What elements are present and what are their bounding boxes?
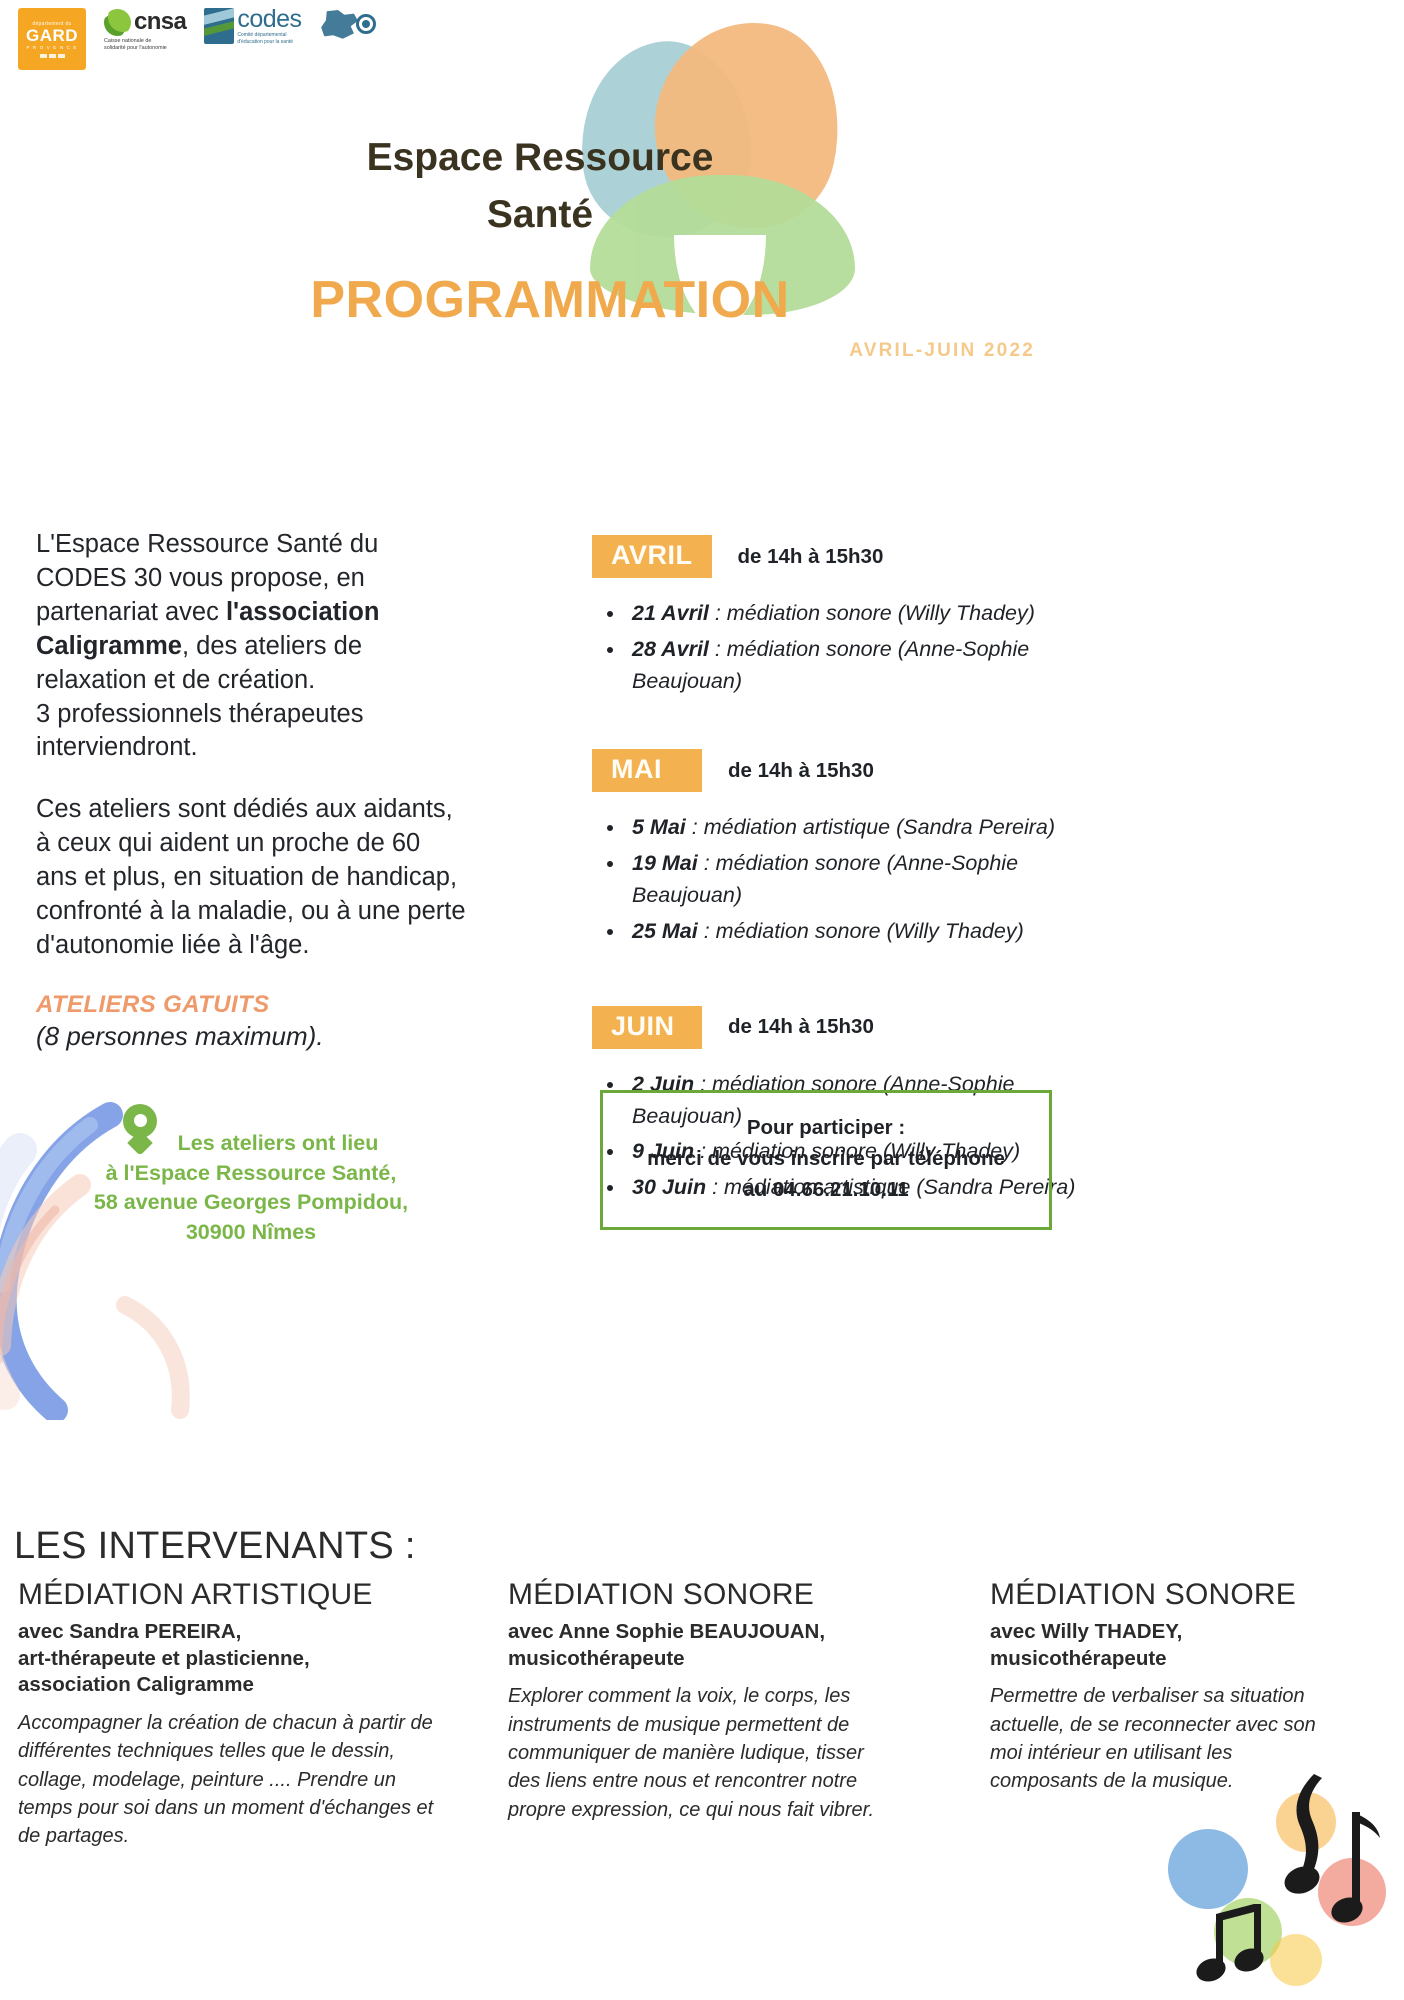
session-desc: : médiation sonore (Willy Thadey) [709, 601, 1035, 625]
session-date: 19 Mai [632, 851, 698, 875]
location-line-3: 58 avenue Georges Pompidou, [94, 1190, 408, 1214]
intro-paragraph-2: Ces ateliers sont dédiés aux aidants, à … [36, 793, 466, 963]
month-badge-mai: MAI [592, 749, 702, 792]
codes-logo-word: codes [237, 5, 301, 33]
location-line-4: 30900 Nîmes [186, 1220, 316, 1244]
session-date: 5 Mai [632, 815, 686, 839]
cnsa-leaf-icon [104, 9, 131, 36]
gard-logo-small-text: département du [32, 22, 71, 27]
intervenant-card-1: MÉDIATION ARTISTIQUE avec Sandra PEREIRA… [18, 1578, 478, 1851]
contact-line-2: merci de vous inscrire par téléphone [613, 1144, 1039, 1175]
intervenant-description: Explorer comment la voix, le corps, les … [508, 1682, 900, 1824]
intro-p1-part-d: 3 professionnels thérapeutes interviendr… [36, 700, 363, 762]
codes-logo: codes Comité départemental d'éducation p… [204, 8, 301, 45]
cnsa-logo-sub: Caisse nationale de solidarité pour l'au… [104, 38, 167, 52]
location-block: Les ateliers ont lieu à l'Espace Ressour… [36, 1104, 466, 1248]
page-title-line1: Espace Ressource [367, 136, 714, 179]
month-badge-juin: JUIN [592, 1006, 702, 1049]
contact-phone: au 04.66.21.10.11 [613, 1175, 1039, 1206]
intervenants-title: LES INTERVENANTS : [14, 1525, 416, 1568]
cnsa-logo-word: cnsa [134, 8, 186, 36]
month-badge-avril: AVRIL [592, 535, 712, 578]
session-desc: : médiation artistique (Sandra Pereira) [686, 815, 1055, 839]
ars-logo-icon [320, 8, 378, 42]
location-line-1: Les ateliers ont lieu [36, 1129, 466, 1159]
list-item: 21 Avril : médiation sonore (Willy Thade… [626, 598, 1112, 630]
free-workshops-subtitle: (8 personnes maximum). [36, 1021, 466, 1052]
intervenant-who: avec Willy THADEY, musicothérapeute [990, 1619, 1320, 1672]
session-date: 21 Avril [632, 601, 709, 625]
intervenant-heading: MÉDIATION SONORE [508, 1578, 900, 1611]
intervenant-who: avec Sandra PEREIRA, art-thérapeute et p… [18, 1619, 440, 1699]
session-date: 25 Mai [632, 919, 698, 943]
list-item: 28 Avril : médiation sonore (Anne-Sophie… [626, 634, 1112, 698]
intervenant-who: avec Anne Sophie BEAUJOUAN, musicothérap… [508, 1619, 900, 1672]
cnsa-logo: cnsa Caisse nationale de solidarité pour… [104, 8, 186, 52]
partner-logos: département du GARD P R O V E N C E cnsa… [18, 8, 378, 70]
contact-line-1: Pour participer : [613, 1113, 1039, 1144]
page-title-line2: Santé [487, 193, 593, 236]
schedule-block-mai: MAI de 14h à 15h30 5 Mai : médiation art… [592, 749, 1112, 947]
free-workshops-title: ATELIERS GATUITS [36, 991, 466, 1019]
gard-logo-bars [40, 54, 65, 58]
gard-logo: département du GARD P R O V E N C E [18, 8, 86, 70]
intro-paragraph-1: L'Espace Ressource Santé du CODES 30 vou… [36, 528, 466, 765]
codes-mark-icon [204, 8, 234, 44]
month-time-juin: de 14h à 15h30 [728, 1015, 874, 1039]
session-list-avril: 21 Avril : médiation sonore (Willy Thade… [626, 598, 1112, 697]
gard-logo-main-text: GARD [26, 27, 78, 45]
intro-column: L'Espace Ressource Santé du CODES 30 vou… [36, 528, 466, 1248]
list-item: 5 Mai : médiation artistique (Sandra Per… [626, 812, 1112, 844]
poster-page: département du GARD P R O V E N C E cnsa… [0, 0, 1404, 2000]
page-title: Espace Ressource Santé [300, 130, 780, 243]
music-notes-icon [1156, 1764, 1396, 1994]
list-item: 19 Mai : médiation sonore (Anne-Sophie B… [626, 848, 1112, 912]
program-dates: AVRIL-JUIN 2022 [0, 340, 1035, 362]
map-pin-icon [123, 1104, 157, 1150]
gard-logo-tagline: P R O V E N C E [26, 46, 77, 51]
codes-logo-sub: Comité départemental d'éducation pour la… [237, 32, 301, 45]
location-line-2: à l'Espace Ressource Santé, [106, 1161, 397, 1185]
session-date: 28 Avril [632, 637, 709, 661]
intervenant-heading: MÉDIATION SONORE [990, 1578, 1320, 1611]
intervenant-description: Accompagner la création de chacun à part… [18, 1709, 440, 1851]
month-time-mai: de 14h à 15h30 [728, 759, 874, 783]
list-item: 25 Mai : médiation sonore (Willy Thadey) [626, 916, 1112, 948]
location-address: Les ateliers ont lieu à l'Espace Ressour… [36, 1129, 466, 1248]
program-title: PROGRAMMATION [240, 270, 860, 330]
session-desc: : médiation sonore (Willy Thadey) [698, 919, 1024, 943]
session-list-mai: 5 Mai : médiation artistique (Sandra Per… [626, 812, 1112, 947]
month-time-avril: de 14h à 15h30 [738, 545, 884, 569]
intervenant-card-2: MÉDIATION SONORE avec Anne Sophie BEAUJO… [478, 1578, 938, 1851]
intervenant-heading: MÉDIATION ARTISTIQUE [18, 1578, 440, 1611]
contact-box: Pour participer : merci de vous inscrire… [600, 1090, 1052, 1230]
schedule-block-avril: AVRIL de 14h à 15h30 21 Avril : médiatio… [592, 535, 1112, 697]
